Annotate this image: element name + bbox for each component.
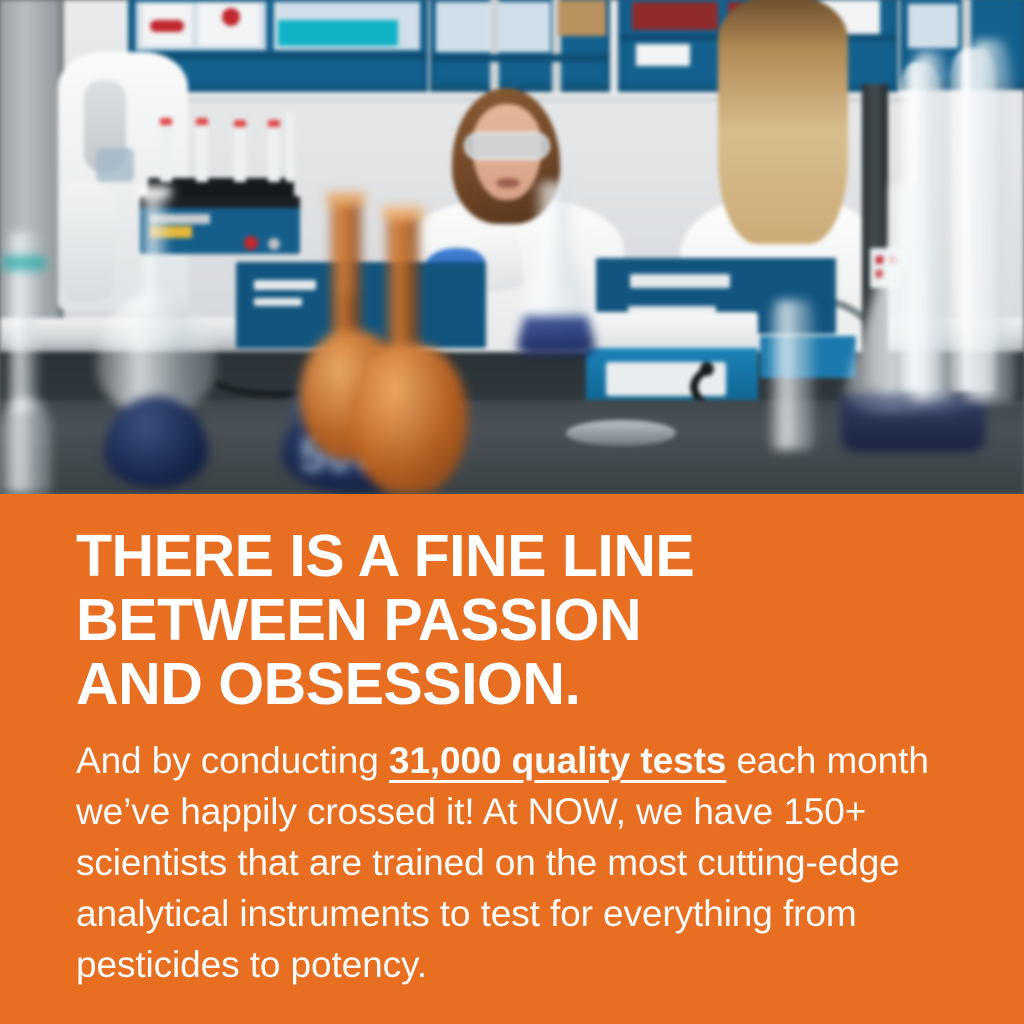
amber-flask-bulb-b [350, 344, 468, 494]
flask-neck-left [142, 190, 168, 308]
erlenmeyer-liquid-center [514, 316, 598, 356]
lab-photo: 500 [0, 0, 1024, 494]
body-copy: And by conducting 31,000 quality tests e… [76, 735, 956, 990]
headline-line-1: THERE IS A FINE LINE [76, 524, 976, 588]
foreground-glassware: 500 [0, 0, 1024, 494]
headline-line-3: AND OBSESSION. [76, 652, 976, 716]
glass-column-foreground-a [906, 52, 952, 402]
page-title: THERE IS A FINE LINE BETWEEN PASSION AND… [76, 524, 976, 716]
glass-column-foreground-b [962, 40, 1016, 402]
promo-card: 500 THERE IS A FINE LINE BET [0, 0, 1024, 1024]
cylinder-base-far-left [0, 398, 52, 494]
glass-column-foreground-c [770, 300, 814, 450]
quality-tests-highlight: 31,000 quality tests [389, 740, 726, 781]
flask-liquid-left [104, 396, 208, 488]
amber-flask-lip-b [382, 206, 424, 220]
body-copy-before: And by conducting [76, 740, 389, 781]
cylinder-teal-band [2, 256, 46, 270]
headline-line-2: BETWEEN PASSION [76, 588, 976, 652]
erlenmeyer-liquid-right [840, 394, 986, 452]
amber-flask-lip-a [326, 192, 366, 206]
flask-lip-left [138, 186, 172, 198]
